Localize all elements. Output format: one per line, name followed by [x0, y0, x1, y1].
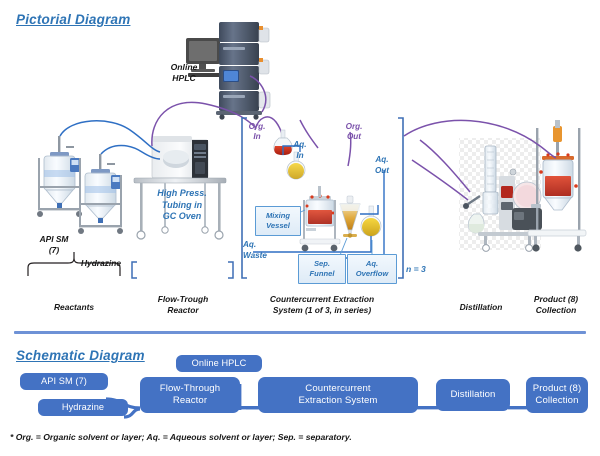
schematic-box-flow-through-reactor[interactable]: Flow-Through Reactor: [140, 377, 240, 413]
schematic-box-hydrazine[interactable]: Hydrazine: [38, 399, 128, 416]
caption-distillation: Distillation: [450, 302, 512, 313]
flow-reactor-line2: Reactor: [160, 395, 220, 407]
schematic-box-online-hplc[interactable]: Online HPLC: [176, 355, 262, 372]
product-collection-equipment: [528, 120, 586, 252]
gc-oven-label: High Press. Tubing in GC Oven: [146, 188, 218, 223]
series-count-label: n = 3: [406, 264, 426, 274]
aq-in-label: Aq. In: [288, 140, 312, 161]
section-divider: [14, 331, 586, 334]
caption-product-collection: Product (8) Collection: [524, 294, 588, 315]
reactor-vessel-api-sm: [37, 136, 82, 217]
separatory-funnel: [340, 196, 360, 238]
hydrazine-label: Hydrazine: [70, 258, 132, 269]
schematic-box-product-collection[interactable]: Product (8) Collection: [526, 377, 588, 413]
aq-waste-label: Aq. Waste: [243, 240, 277, 261]
mixing-vessel-equipment: [300, 186, 340, 251]
caption-countercurrent-extraction: Countercurrent Extraction System (1 of 3…: [256, 294, 388, 315]
caption-flow-reactor: Flow-Trough Reactor: [152, 294, 214, 315]
schematic-diagram-title: Schematic Diagram: [16, 348, 145, 363]
flow-reactor-line1: Flow-Through: [160, 383, 220, 395]
aq-out-label: Aq. Out: [369, 155, 395, 176]
api-sm-label: API SM (7): [28, 234, 80, 255]
product-line2: Collection: [533, 395, 582, 407]
schematic-box-api-sm[interactable]: API SM (7): [20, 373, 108, 390]
mixing-vessel-callout: Mixing Vessel: [255, 206, 301, 236]
aq-overflow-callout: Aq. Overflow: [347, 254, 397, 284]
product-line1: Product (8): [533, 383, 582, 395]
diagram-canvas: Pictorial Diagram: [0, 0, 600, 456]
extraction-line1: Countercurrent: [298, 383, 377, 395]
online-hplc-label: Online HPLC: [158, 62, 210, 84]
org-in-label: Org. In: [244, 122, 270, 143]
footnote: * Org. = Organic solvent or layer; Aq. =…: [10, 432, 352, 442]
sep-funnel-callout: Sep. Funnel: [298, 254, 346, 284]
org-out-label: Org. Out: [341, 122, 367, 143]
extraction-line2: Extraction System: [298, 395, 377, 407]
caption-reactants: Reactants: [44, 302, 104, 313]
reactor-vessel-hydrazine: [78, 154, 123, 234]
schematic-box-distillation[interactable]: Distillation: [436, 379, 510, 411]
schematic-box-countercurrent-extraction-system[interactable]: Countercurrent Extraction System: [258, 377, 418, 413]
blue-tubing-reactants: [60, 121, 160, 159]
flow-reactor-bracket: [132, 262, 233, 278]
